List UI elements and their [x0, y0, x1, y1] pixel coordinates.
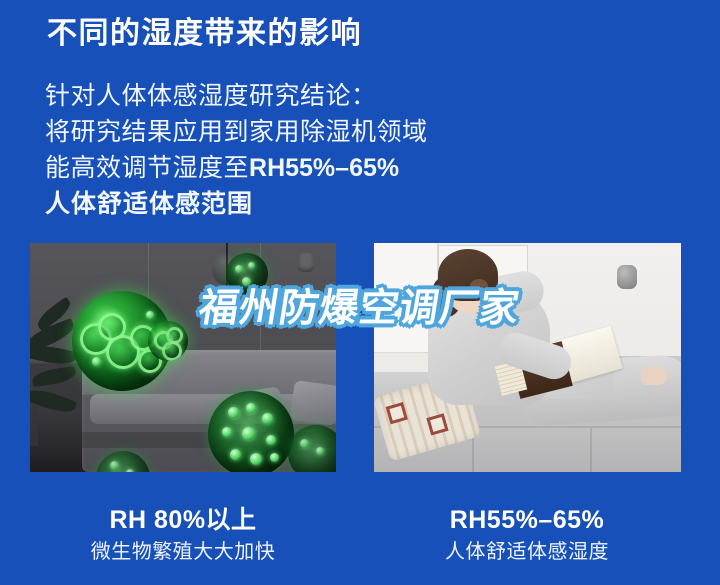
watermark-text: 福州防爆空调厂家	[196, 277, 525, 333]
bacteria-dot-icon	[270, 453, 279, 462]
wall-knob-icon	[298, 253, 314, 272]
body-line-1: 针对人体体感湿度研究结论：	[45, 78, 645, 114]
bacteria-dot-icon	[300, 439, 309, 448]
sofa-seam	[590, 428, 592, 472]
caption-right-title: RH55%–65%	[374, 505, 680, 536]
bacteria-dot-icon	[146, 311, 154, 319]
bacteria-dot-icon	[242, 427, 255, 440]
page-title: 不同的湿度带来的影响	[47, 14, 362, 54]
caption-left: RH 80%以上 微生物繁殖大大加快	[30, 505, 336, 566]
cushion-icon	[289, 380, 336, 426]
bacteria-dot-icon	[222, 427, 232, 437]
plant-leaf-icon	[31, 366, 77, 387]
bacteria-dot-icon	[262, 413, 273, 424]
microbe-magnifier-small	[148, 321, 188, 361]
plant-pot-icon	[38, 408, 82, 462]
bacteria-dot-icon	[126, 469, 134, 472]
caption-right: RH55%–65% 人体舒适体感湿度	[374, 505, 680, 566]
bacteria-dot-icon	[230, 449, 241, 460]
bacteria-dot-icon	[235, 265, 243, 273]
bacteria-dot-icon	[92, 357, 101, 366]
body-line-3: 能高效调节湿度至RH55%–65%	[45, 150, 645, 186]
caption-left-subtitle: 微生物繁殖大大加快	[30, 538, 336, 566]
wall-speaker-icon	[617, 265, 637, 289]
bacteria-dot-icon	[316, 447, 324, 455]
body-line-4: 人体舒适体感范围	[45, 186, 645, 222]
body-line-2: 将研究结果应用到家用除湿机领域	[45, 114, 645, 150]
bacteria-dot-icon	[110, 461, 119, 470]
pillow-motif-icon	[426, 413, 448, 435]
body-line-3-prefix: 能高效调节湿度至	[45, 154, 249, 182]
bacteria-cell-icon	[162, 341, 182, 361]
plant-leaf-icon	[30, 342, 77, 368]
microbe-sphere-large	[208, 391, 294, 472]
person-foot	[641, 367, 667, 385]
bacteria-dot-icon	[228, 407, 239, 418]
bacteria-dot-icon	[248, 262, 255, 269]
bacteria-dot-icon	[266, 435, 276, 445]
body-line-3-emphasis: RH55%–65%	[249, 154, 399, 182]
caption-right-subtitle: 人体舒适体感湿度	[374, 538, 680, 566]
body-copy: 针对人体体感湿度研究结论： 将研究结果应用到家用除湿机领域 能高效调节湿度至RH…	[45, 78, 645, 222]
pillow-motif-icon	[386, 402, 408, 424]
caption-left-title: RH 80%以上	[30, 505, 336, 536]
bacteria-dot-icon	[246, 403, 256, 413]
bacteria-dot-icon	[250, 453, 262, 465]
poster-root: 不同的湿度带来的影响 针对人体体感湿度研究结论： 将研究结果应用到家用除湿机领域…	[0, 0, 720, 585]
